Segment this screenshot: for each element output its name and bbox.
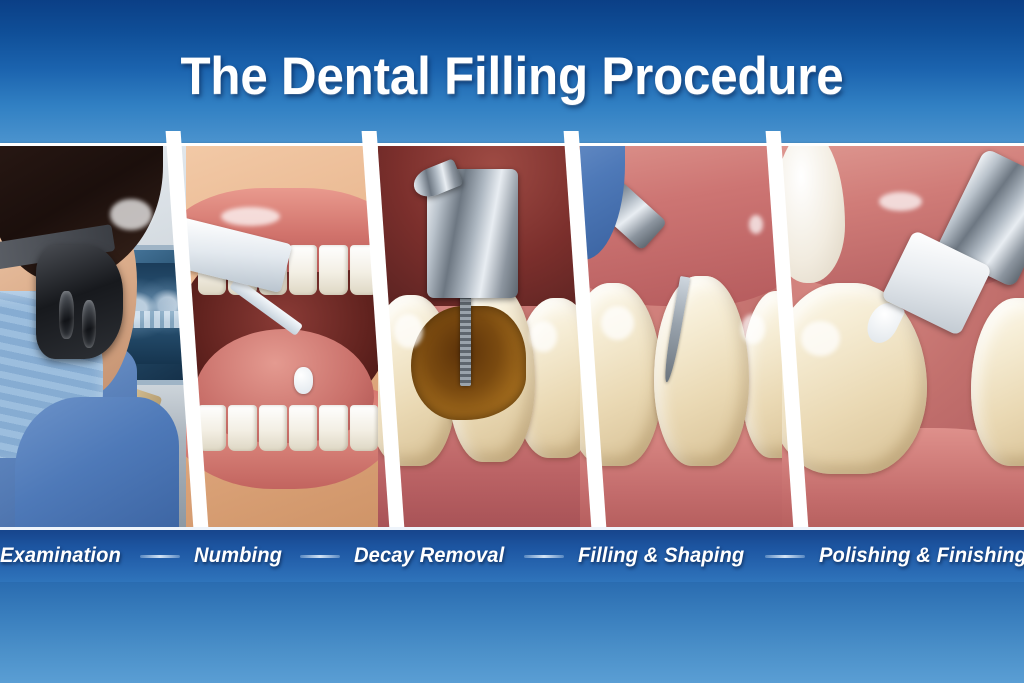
numbing-illustration <box>186 146 382 527</box>
page-title: The Dental Filling Procedure <box>36 46 988 107</box>
step-image-filling-shaping <box>580 146 786 527</box>
step-image-examination <box>0 146 190 527</box>
step-connector-4 <box>765 555 805 558</box>
step-image-decay-removal <box>378 146 584 527</box>
step-connector-1 <box>140 555 180 558</box>
step-image-numbing <box>186 146 382 527</box>
dental-filling-infographic: The Dental Filling Procedure <box>0 0 1024 683</box>
step-image-polishing-finishing <box>782 146 1024 527</box>
cotton-roll <box>782 146 845 283</box>
filling-shaping-illustration <box>580 146 786 527</box>
step-label-bar: Examination Numbing Decay Removal Fillin… <box>0 530 1024 582</box>
decay-removal-illustration <box>378 146 584 527</box>
procedure-image-strip <box>0 143 1024 530</box>
step-label-decay-removal: Decay Removal <box>354 544 504 568</box>
step-label-filling-shaping: Filling & Shaping <box>578 544 744 568</box>
step-connector-2 <box>300 555 340 558</box>
examination-illustration <box>0 146 190 527</box>
footer-band <box>0 582 1024 683</box>
dental-drill-handpiece <box>427 169 518 299</box>
step-label-polishing-finishing: Polishing & Finishing <box>819 544 1024 568</box>
step-label-examination: Examination <box>0 544 121 568</box>
polishing-finishing-illustration <box>782 146 1024 527</box>
header-banner: The Dental Filling Procedure <box>0 0 1024 143</box>
step-connector-3 <box>524 555 564 558</box>
step-label-numbing: Numbing <box>194 544 282 568</box>
